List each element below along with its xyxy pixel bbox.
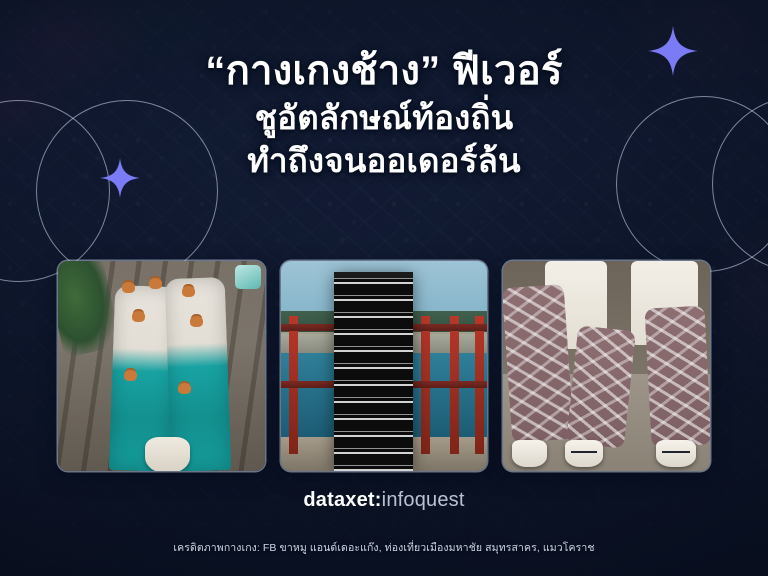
logo-brand-infoquest: infoquest	[382, 489, 465, 511]
white-sneaker	[656, 440, 695, 467]
animal-motif	[132, 311, 145, 322]
photo-elephant-pants	[281, 261, 488, 471]
logo-brand-et: et	[357, 489, 375, 511]
animal-motif	[122, 282, 135, 293]
elephant-print-pants	[334, 274, 413, 471]
dataxet-infoquest-logo: dataxet:infoquest	[0, 489, 768, 512]
sneaker-stripe	[571, 451, 597, 453]
white-sneaker	[512, 440, 547, 467]
sneaker	[145, 437, 190, 471]
headline-line-2: ชูอัตลักษณ์ท้องถิ่น	[0, 97, 768, 140]
mauve-patterned-pants	[644, 306, 710, 448]
headline-line-3: ทำถึงจนออเดอร์ล้น	[0, 140, 768, 183]
animal-motif	[190, 316, 203, 327]
headline-block: “กางเกงช้าง” ฟีเวอร์ ชูอัตลักษณ์ท้องถิ่น…	[0, 48, 768, 183]
animal-motif	[124, 370, 137, 381]
white-sneaker	[565, 440, 602, 467]
headline-line-1: “กางเกงช้าง” ฟีเวอร์	[0, 48, 768, 95]
poster-card: “กางเกงช้าง” ฟีเวอร์ ชูอัตลักษณ์ท้องถิ่น…	[0, 0, 768, 576]
sneaker-stripe	[662, 451, 689, 453]
photo-mauve-pants	[503, 261, 710, 471]
image-credit-line: เครดิตภาพกางเกง: FB ขาหมู แอนด์เดอะแก๊ง,…	[0, 539, 768, 556]
logo-brand-x: x	[345, 489, 356, 511]
photo-capybara-pants	[58, 261, 265, 471]
animal-motif	[182, 286, 195, 297]
pants-waistband	[334, 272, 413, 278]
teal-bag	[235, 265, 261, 289]
mauve-patterned-pants	[503, 284, 574, 443]
logo-brand-data: data	[303, 489, 345, 511]
animal-motif	[178, 383, 191, 394]
mauve-patterned-pants	[566, 325, 636, 448]
logo-separator: :	[375, 489, 382, 511]
photo-strip	[58, 261, 710, 471]
animal-motif	[149, 278, 162, 289]
